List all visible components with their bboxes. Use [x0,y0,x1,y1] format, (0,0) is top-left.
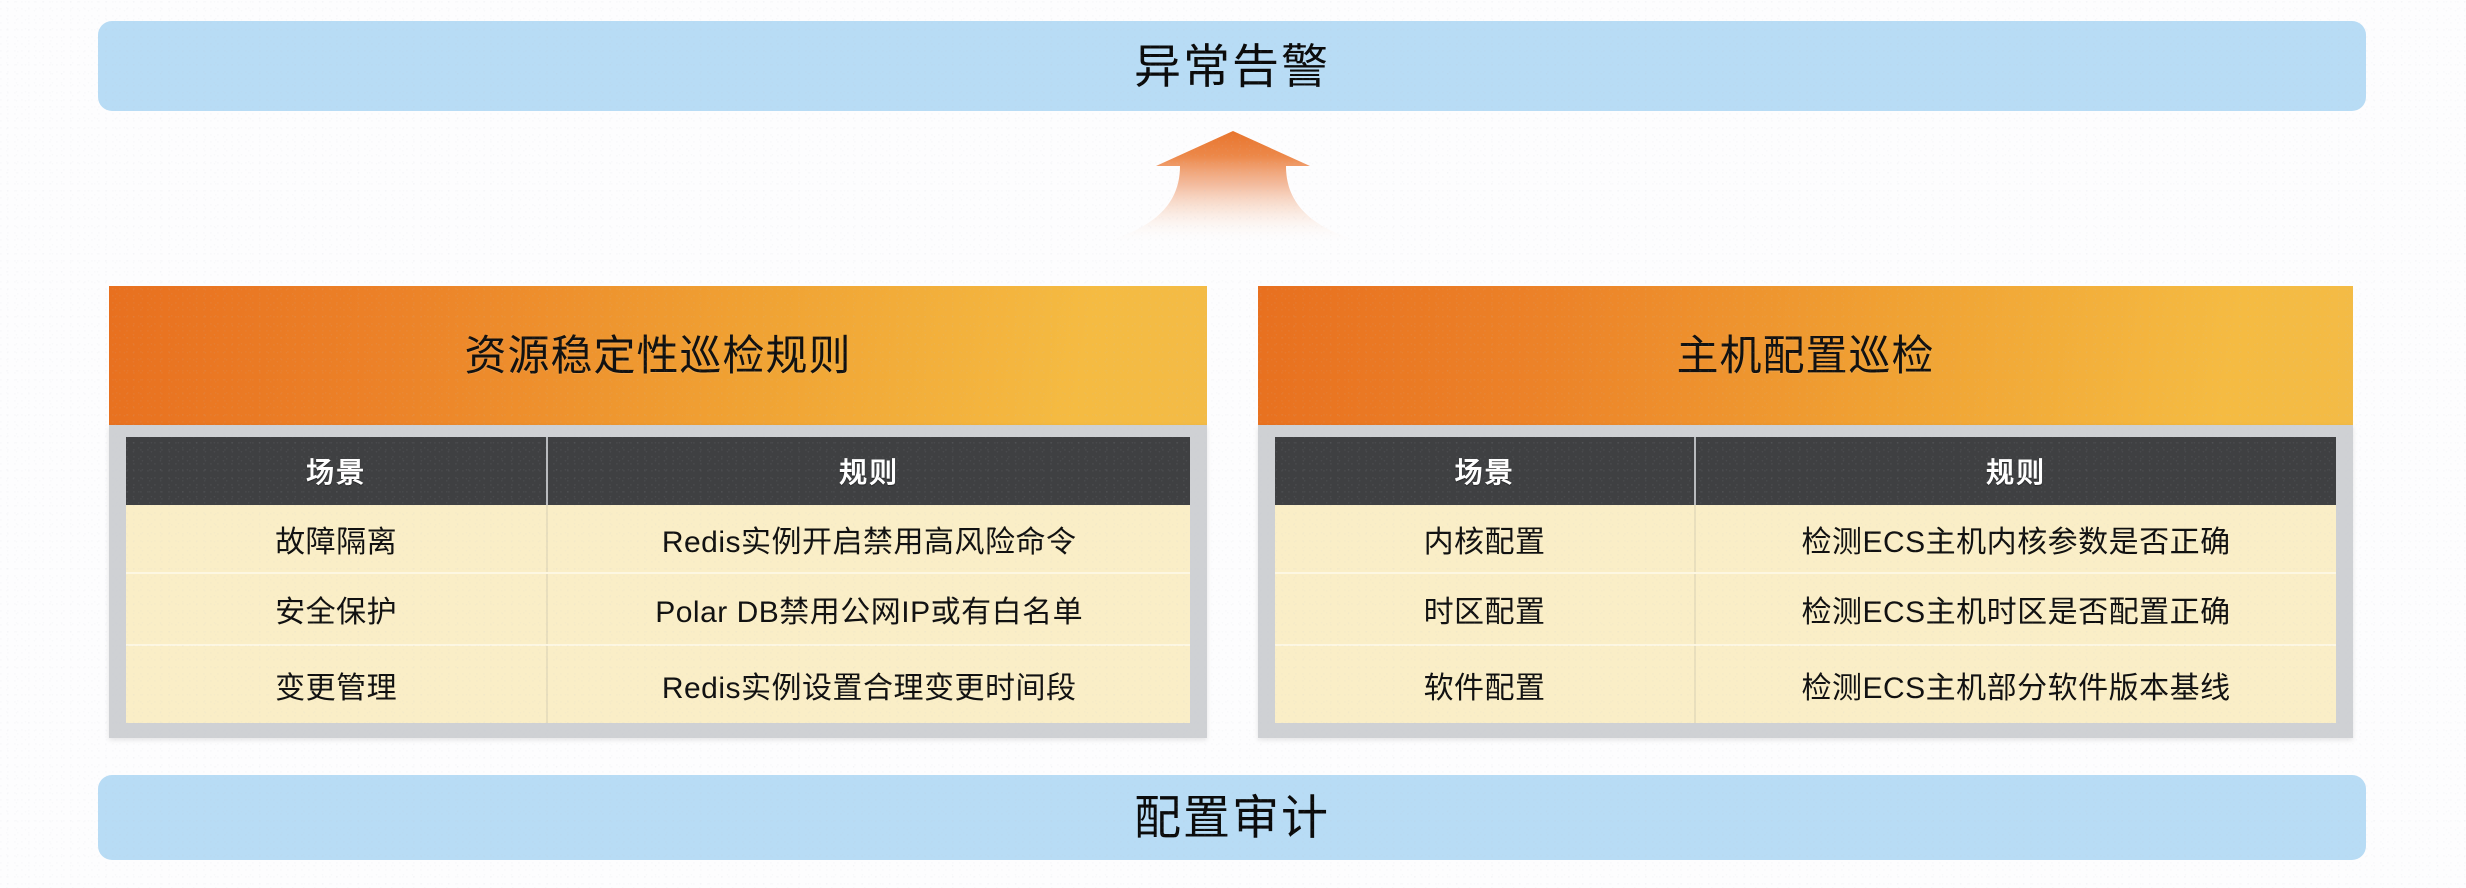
table-row: 内核配置 检测ECS主机内核参数是否正确 [1275,505,2336,573]
card-host-configuration-title: 主机配置巡检 [1676,335,1934,377]
column-header-scene: 场景 [126,437,547,505]
table-header-row: 场景 规则 [1275,437,2336,505]
cell-rule: 检测ECS主机部分软件版本基线 [1695,645,2336,723]
table-row: 安全保护 Polar DB禁用公网IP或有白名单 [126,573,1190,645]
anomaly-alert-banner: 异常告警 [98,21,2366,111]
cell-rule: Polar DB禁用公网IP或有白名单 [547,573,1190,645]
column-header-scene: 场景 [1275,437,1695,505]
card-resource-stability-title: 资源稳定性巡检规则 [464,335,851,377]
cell-scene: 安全保护 [126,573,547,645]
resource-stability-table: 场景 规则 故障隔离 Redis实例开启禁用高风险命令 安全保护 Polar D… [126,437,1190,723]
card-resource-stability-header: 资源稳定性巡检规则 [109,286,1207,425]
cell-scene: 内核配置 [1275,505,1695,573]
card-host-configuration-body: 场景 规则 内核配置 检测ECS主机内核参数是否正确 时区配置 检测ECS主机时… [1258,425,2353,738]
host-configuration-table: 场景 规则 内核配置 检测ECS主机内核参数是否正确 时区配置 检测ECS主机时… [1275,437,2336,723]
cell-scene: 软件配置 [1275,645,1695,723]
cell-scene: 故障隔离 [126,505,547,573]
column-header-rule: 规则 [1695,437,2336,505]
configuration-audit-banner-label: 配置审计 [1134,794,1330,841]
card-host-configuration: 主机配置巡检 场景 规则 内核配置 检测ECS主机内核参数是否正确 时区配置 检… [1258,286,2353,738]
table-row: 变更管理 Redis实例设置合理变更时间段 [126,645,1190,723]
card-host-configuration-header: 主机配置巡检 [1258,286,2353,425]
cell-rule: Redis实例设置合理变更时间段 [547,645,1190,723]
cell-rule: 检测ECS主机内核参数是否正确 [1695,505,2336,573]
table-row: 软件配置 检测ECS主机部分软件版本基线 [1275,645,2336,723]
table-header-row: 场景 规则 [126,437,1190,505]
cell-scene: 时区配置 [1275,573,1695,645]
anomaly-alert-banner-label: 异常告警 [1134,43,1330,90]
configuration-audit-banner: 配置审计 [98,775,2366,860]
cell-rule: Redis实例开启禁用高风险命令 [547,505,1190,573]
table-row: 时区配置 检测ECS主机时区是否配置正确 [1275,573,2336,645]
cell-rule: 检测ECS主机时区是否配置正确 [1695,573,2336,645]
card-resource-stability: 资源稳定性巡检规则 场景 规则 故障隔离 Redis实例开启禁用高风险命令 安全… [109,286,1207,738]
card-resource-stability-body: 场景 规则 故障隔离 Redis实例开启禁用高风险命令 安全保护 Polar D… [109,425,1207,738]
table-row: 故障隔离 Redis实例开启禁用高风险命令 [126,505,1190,573]
column-header-rule: 规则 [547,437,1190,505]
up-arrow-icon [1088,128,1378,283]
cell-scene: 变更管理 [126,645,547,723]
